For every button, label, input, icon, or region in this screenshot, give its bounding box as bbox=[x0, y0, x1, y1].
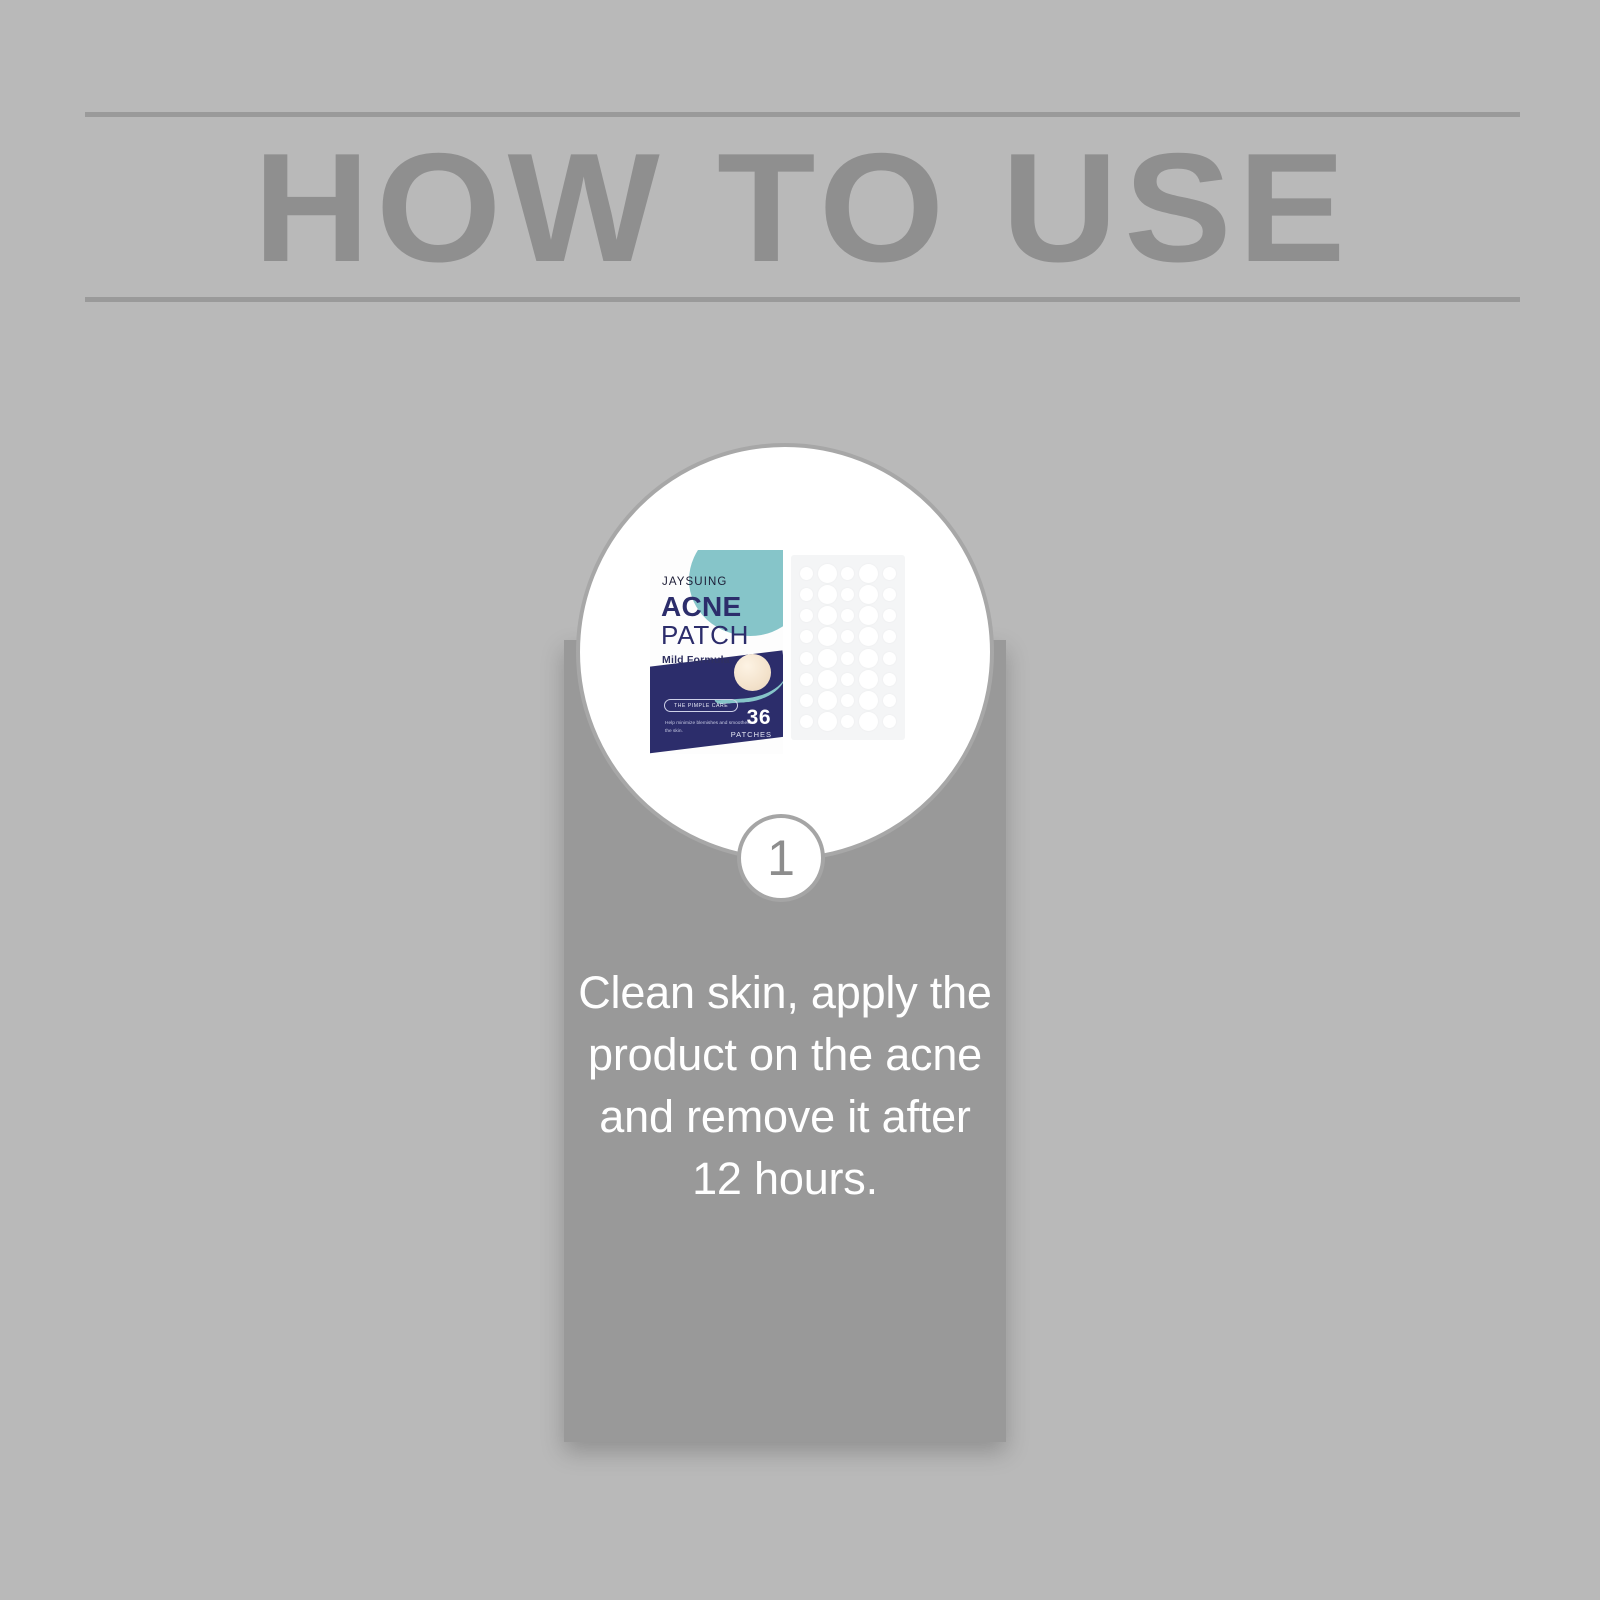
patch-dot bbox=[883, 694, 896, 707]
patch-dot bbox=[800, 630, 813, 643]
patch-dot bbox=[859, 670, 878, 689]
product-photo: JAYSUING ACNE PATCH Mild Formula THE PIM… bbox=[650, 550, 920, 754]
product-title-acne: ACNE bbox=[661, 593, 742, 621]
step-number-badge: 1 bbox=[737, 814, 825, 902]
patch-dot bbox=[859, 585, 878, 604]
product-title-patch: PATCH bbox=[661, 622, 749, 648]
patch-dot bbox=[818, 606, 837, 625]
patch-dot bbox=[841, 673, 854, 686]
patch-dot bbox=[800, 567, 813, 580]
patch-dot bbox=[841, 715, 854, 728]
patch-dot bbox=[818, 712, 837, 731]
patch-dot bbox=[800, 588, 813, 601]
patch-dot bbox=[818, 691, 837, 710]
patch-dot bbox=[818, 670, 837, 689]
patch-dot bbox=[883, 630, 896, 643]
patch-dot bbox=[841, 588, 854, 601]
patch-dot bbox=[883, 609, 896, 622]
patch-count-label: PATCHES bbox=[731, 730, 772, 739]
patch-dot bbox=[800, 652, 813, 665]
patch-dot bbox=[800, 715, 813, 728]
patch-count-number: 36 bbox=[747, 707, 771, 728]
pimple-care-badge: THE PIMPLE CARE bbox=[664, 699, 738, 712]
patch-dot bbox=[818, 564, 837, 583]
patch-dot bbox=[859, 606, 878, 625]
patch-dot bbox=[859, 712, 878, 731]
patch-dot bbox=[883, 652, 896, 665]
patch-dot bbox=[841, 652, 854, 665]
patch-dot bbox=[859, 691, 878, 710]
patch-dot bbox=[859, 564, 878, 583]
header: HOW TO USE bbox=[85, 112, 1520, 302]
page-title: HOW TO USE bbox=[56, 112, 1548, 302]
patch-dot bbox=[818, 627, 837, 646]
patch-dot bbox=[841, 609, 854, 622]
patch-dot bbox=[818, 585, 837, 604]
product-image-bubble: JAYSUING ACNE PATCH Mild Formula THE PIM… bbox=[576, 443, 994, 861]
patch-dot bbox=[800, 694, 813, 707]
patch-dot bbox=[841, 567, 854, 580]
patch-dot bbox=[859, 649, 878, 668]
step-instruction-text: Clean skin, apply the product on the acn… bbox=[575, 962, 995, 1210]
product-package-box: JAYSUING ACNE PATCH Mild Formula THE PIM… bbox=[650, 550, 783, 754]
patch-sheet bbox=[791, 555, 905, 740]
header-rule-bottom bbox=[85, 297, 1520, 302]
patch-dot bbox=[883, 567, 896, 580]
patch-dot bbox=[841, 630, 854, 643]
patch-dot bbox=[800, 609, 813, 622]
product-subtitle: Mild Formula bbox=[662, 654, 730, 666]
patch-dot bbox=[883, 673, 896, 686]
patch-sample-circle bbox=[734, 654, 771, 691]
product-brand-name: JAYSUING bbox=[662, 576, 727, 588]
patch-dot bbox=[883, 715, 896, 728]
patch-dot bbox=[883, 588, 896, 601]
patch-dot bbox=[800, 673, 813, 686]
patch-dot bbox=[818, 649, 837, 668]
patch-dot bbox=[841, 694, 854, 707]
patch-dot bbox=[859, 627, 878, 646]
